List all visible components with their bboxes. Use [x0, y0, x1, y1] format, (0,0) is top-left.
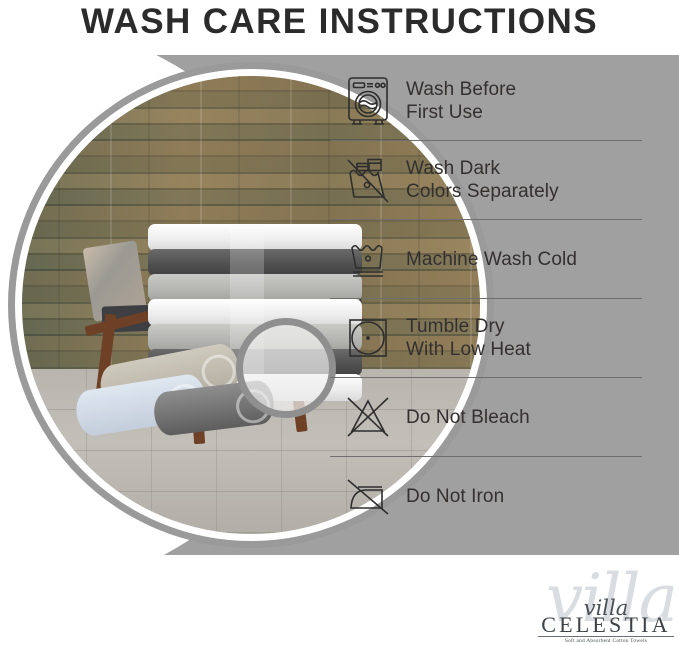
care-label: Tumble Dry With Low Heat: [406, 315, 531, 361]
care-row-do-not-bleach: Do Not Bleach: [330, 377, 642, 456]
tumble-dry-low-heat-icon: [330, 313, 406, 363]
care-row-machine-wash-cold: Machine Wash Cold: [330, 219, 642, 298]
care-row-do-not-iron: Do Not Iron: [330, 456, 642, 535]
care-label: Do Not Iron: [406, 485, 504, 508]
page-title: WASH CARE INSTRUCTIONS: [0, 0, 679, 44]
care-label: Do Not Bleach: [406, 406, 530, 429]
care-instruction-list: Wash Before First Use Wash Dark Colors S…: [330, 62, 642, 535]
care-row-wash-before-first-use: Wash Before First Use: [330, 62, 642, 140]
logo-brand-name: CELESTIA: [538, 614, 674, 636]
do-not-bleach-icon: [330, 393, 406, 441]
wash-dark-separately-icon: [330, 154, 406, 206]
brand-logo: villa villa CELESTIA Soft and Absorbent …: [538, 566, 674, 640]
washing-machine-icon: [330, 75, 406, 127]
care-label: Machine Wash Cold: [406, 248, 577, 271]
logo-tagline: Soft and Absorbent Cotton Towels: [538, 636, 674, 645]
care-label: Wash Dark Colors Separately: [406, 157, 559, 203]
care-label: Wash Before First Use: [406, 78, 516, 124]
magnifier-circle: [236, 318, 336, 418]
care-row-tumble-dry-low-heat: Tumble Dry With Low Heat: [330, 298, 642, 377]
care-row-wash-dark-separately: Wash Dark Colors Separately: [330, 140, 642, 219]
machine-wash-cold-icon: [330, 235, 406, 283]
do-not-iron-icon: [330, 472, 406, 520]
